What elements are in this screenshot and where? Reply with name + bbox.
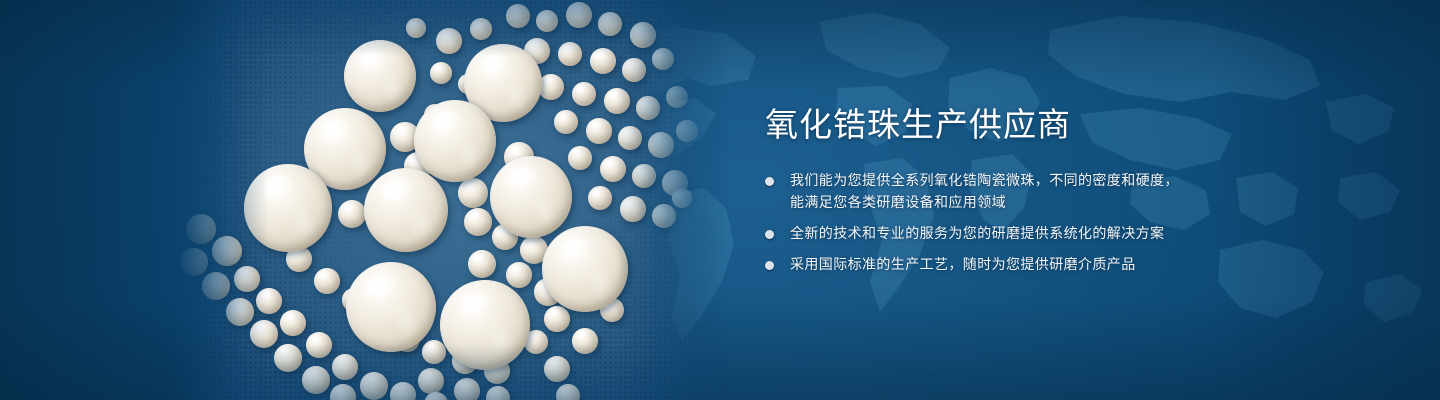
bullet-dot-icon (765, 261, 774, 270)
product-photo-zirconia-beads (168, 0, 728, 400)
page-title: 氧化锆珠生产供应商 (765, 104, 1365, 146)
list-item-line: 采用国际标准的生产工艺，随时为您提供研磨介质产品 (790, 254, 1365, 276)
bullet-dot-icon (765, 230, 774, 239)
list-item-line: 能满足您各类研磨设备和应用领域 (790, 192, 1365, 214)
banner-text-column: 氧化锆珠生产供应商 我们能为您提供全系列氧化锆陶瓷微珠，不同的密度和硬度， 能满… (765, 104, 1365, 276)
list-item: 全新的技术和专业的服务为您的研磨提供系统化的解决方案 (765, 223, 1365, 245)
feature-list: 我们能为您提供全系列氧化锆陶瓷微珠，不同的密度和硬度， 能满足您各类研磨设备和应… (765, 170, 1365, 276)
bullet-dot-icon (765, 177, 774, 186)
list-item: 我们能为您提供全系列氧化锆陶瓷微珠，不同的密度和硬度， 能满足您各类研磨设备和应… (765, 170, 1365, 214)
list-item: 采用国际标准的生产工艺，随时为您提供研磨介质产品 (765, 254, 1365, 276)
list-item-line: 我们能为您提供全系列氧化锆陶瓷微珠，不同的密度和硬度， (790, 170, 1365, 192)
hero-banner: 氧化锆珠生产供应商 我们能为您提供全系列氧化锆陶瓷微珠，不同的密度和硬度， 能满… (0, 0, 1440, 400)
photo-edge-blend (168, 0, 728, 400)
list-item-line: 全新的技术和专业的服务为您的研磨提供系统化的解决方案 (790, 223, 1365, 245)
